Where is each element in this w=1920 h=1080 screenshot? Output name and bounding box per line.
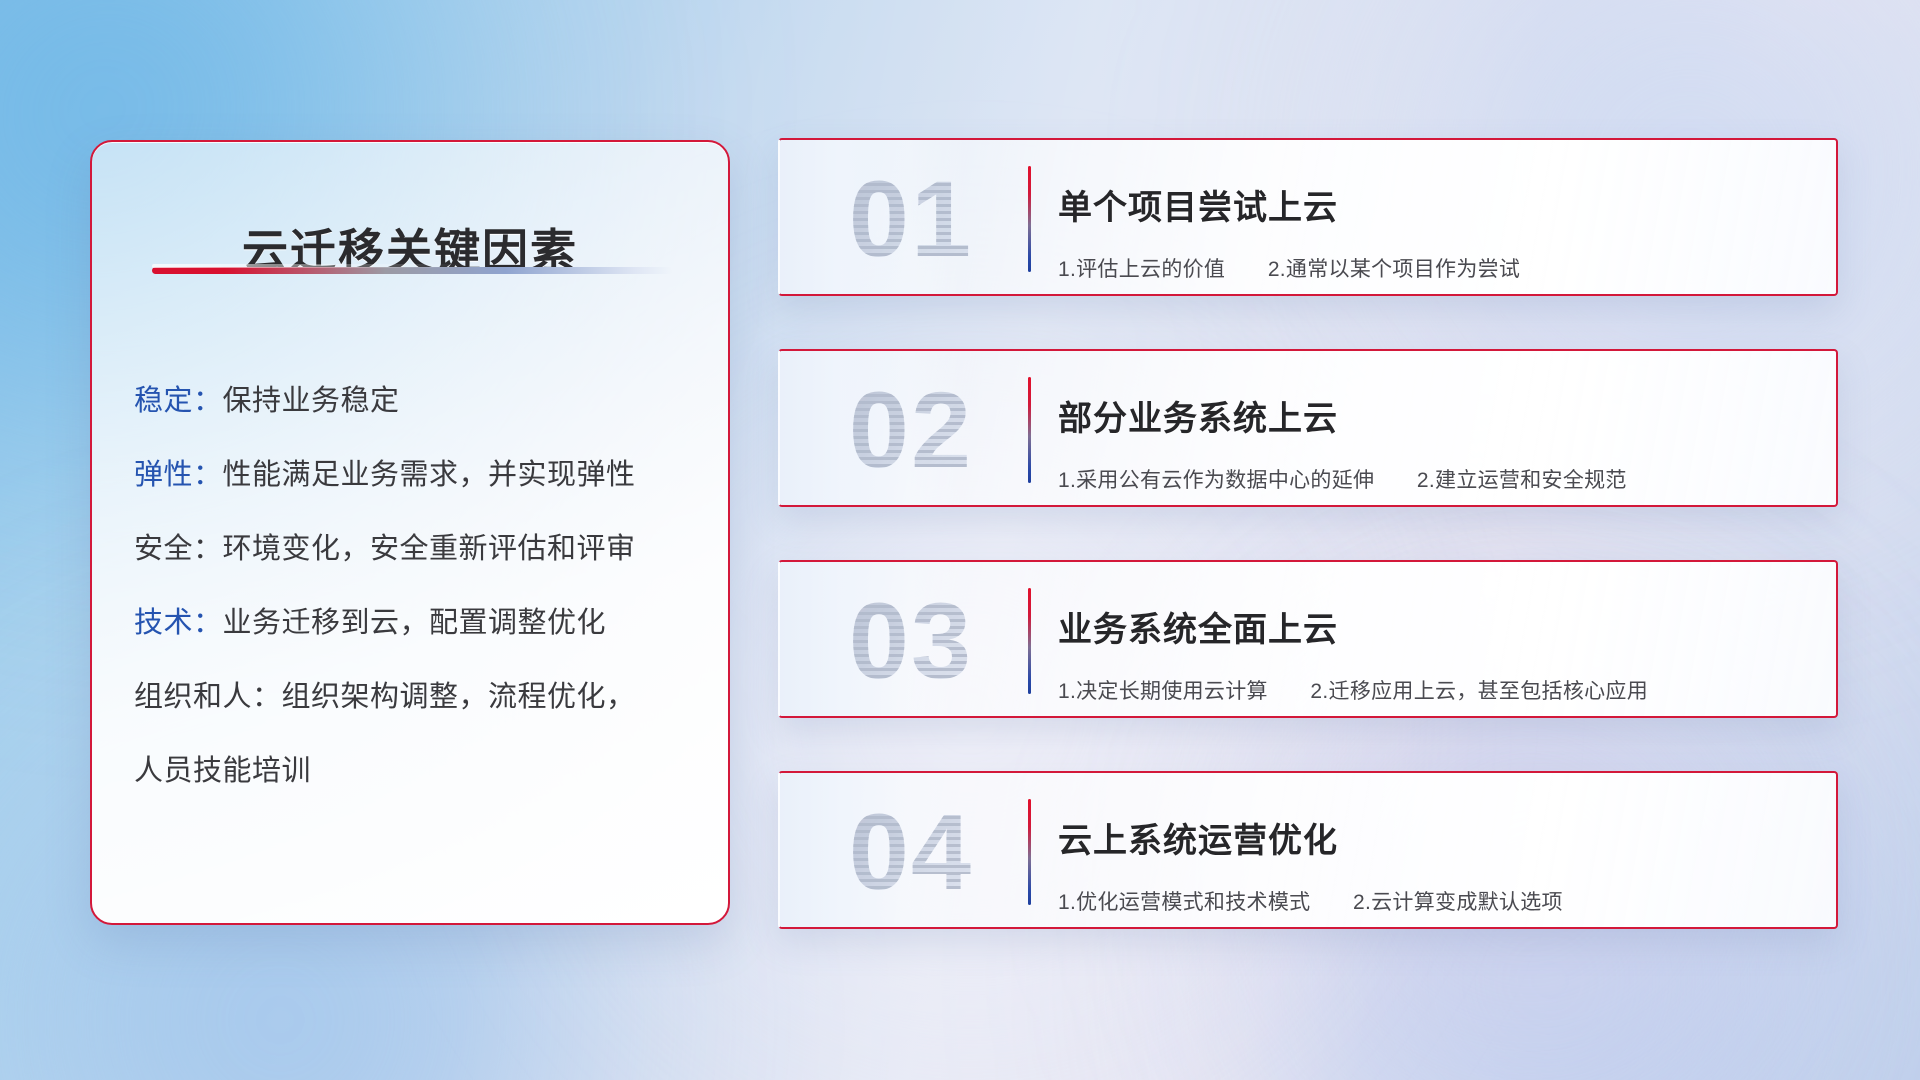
step-text-block: 云上系统运营优化1.优化运营模式和技术模式 2.云计算变成默认选项	[1058, 793, 1806, 929]
step-number-watermark: 04	[816, 781, 1006, 923]
step-number-watermark: 01	[816, 148, 1006, 290]
slide-stage: 云迁移关键因素 稳定：保持业务稳定弹性：性能满足业务需求，并实现弹性安全：环境变…	[0, 0, 1920, 1080]
step-subtitle: 1.优化运营模式和技术模式 2.云计算变成默认选项	[1058, 890, 1806, 916]
factor-key: 组织和人：	[134, 681, 282, 713]
factor-list: 稳定：保持业务稳定弹性：性能满足业务需求，并实现弹性安全：环境变化，安全重新评估…	[134, 364, 698, 808]
step-text-block: 单个项目尝试上云1.评估上云的价值 2.通常以某个项目作为尝试	[1058, 160, 1806, 296]
step-text-block: 部分业务系统上云1.采用公有云作为数据中心的延伸 2.建立运营和安全规范	[1058, 371, 1806, 507]
card-divider-accent	[1028, 588, 1031, 694]
factor-key: 安全：	[134, 533, 223, 565]
step-subtitle: 1.采用公有云作为数据中心的延伸 2.建立运营和安全规范	[1058, 468, 1806, 494]
factor-value: 性能满足业务需求，并实现弹性	[223, 459, 636, 491]
factor-value: 组织架构调整，流程优化，	[282, 681, 636, 713]
factor-key: 技术：	[134, 607, 223, 639]
card-divider-accent	[1028, 377, 1031, 483]
step-title: 云上系统运营优化	[1058, 821, 1806, 861]
step-number-watermark: 03	[816, 570, 1006, 712]
factor-item: 弹性：性能满足业务需求，并实现弹性	[134, 438, 698, 512]
factor-item: 人员技能培训	[134, 734, 698, 808]
step-title: 业务系统全面上云	[1058, 610, 1806, 650]
migration-step-card[interactable]: 02部分业务系统上云1.采用公有云作为数据中心的延伸 2.建立运营和安全规范	[778, 349, 1838, 507]
key-factors-panel: 云迁移关键因素 稳定：保持业务稳定弹性：性能满足业务需求，并实现弹性安全：环境变…	[90, 140, 730, 925]
step-title: 单个项目尝试上云	[1058, 188, 1806, 228]
migration-step-card[interactable]: 01单个项目尝试上云1.评估上云的价值 2.通常以某个项目作为尝试	[778, 138, 1838, 296]
factor-item: 组织和人：组织架构调整，流程优化，	[134, 660, 698, 734]
factor-item: 安全：环境变化，安全重新评估和评审	[134, 512, 698, 586]
factor-value: 保持业务稳定	[223, 385, 400, 417]
step-subtitle: 1.评估上云的价值 2.通常以某个项目作为尝试	[1058, 257, 1806, 283]
migration-steps-list: 01单个项目尝试上云1.评估上云的价值 2.通常以某个项目作为尝试02部分业务系…	[778, 138, 1838, 982]
factor-item: 技术：业务迁移到云，配置调整优化	[134, 586, 698, 660]
card-divider-accent	[1028, 799, 1031, 905]
step-number-watermark: 02	[816, 359, 1006, 501]
step-text-block: 业务系统全面上云1.决定长期使用云计算 2.迁移应用上云，甚至包括核心应用	[1058, 582, 1806, 718]
factor-value: 业务迁移到云，配置调整优化	[223, 607, 607, 639]
card-divider-accent	[1028, 166, 1031, 272]
factor-key: 稳定：	[134, 385, 223, 417]
factor-item: 稳定：保持业务稳定	[134, 364, 698, 438]
migration-step-card[interactable]: 03业务系统全面上云1.决定长期使用云计算 2.迁移应用上云，甚至包括核心应用	[778, 560, 1838, 718]
factor-value: 人员技能培训	[134, 755, 311, 787]
step-title: 部分业务系统上云	[1058, 399, 1806, 439]
title-underline-accent	[152, 267, 672, 274]
migration-step-card[interactable]: 04云上系统运营优化1.优化运营模式和技术模式 2.云计算变成默认选项	[778, 771, 1838, 929]
factor-value: 环境变化，安全重新评估和评审	[223, 533, 636, 565]
factor-key: 弹性：	[134, 459, 223, 491]
step-subtitle: 1.决定长期使用云计算 2.迁移应用上云，甚至包括核心应用	[1058, 679, 1806, 705]
